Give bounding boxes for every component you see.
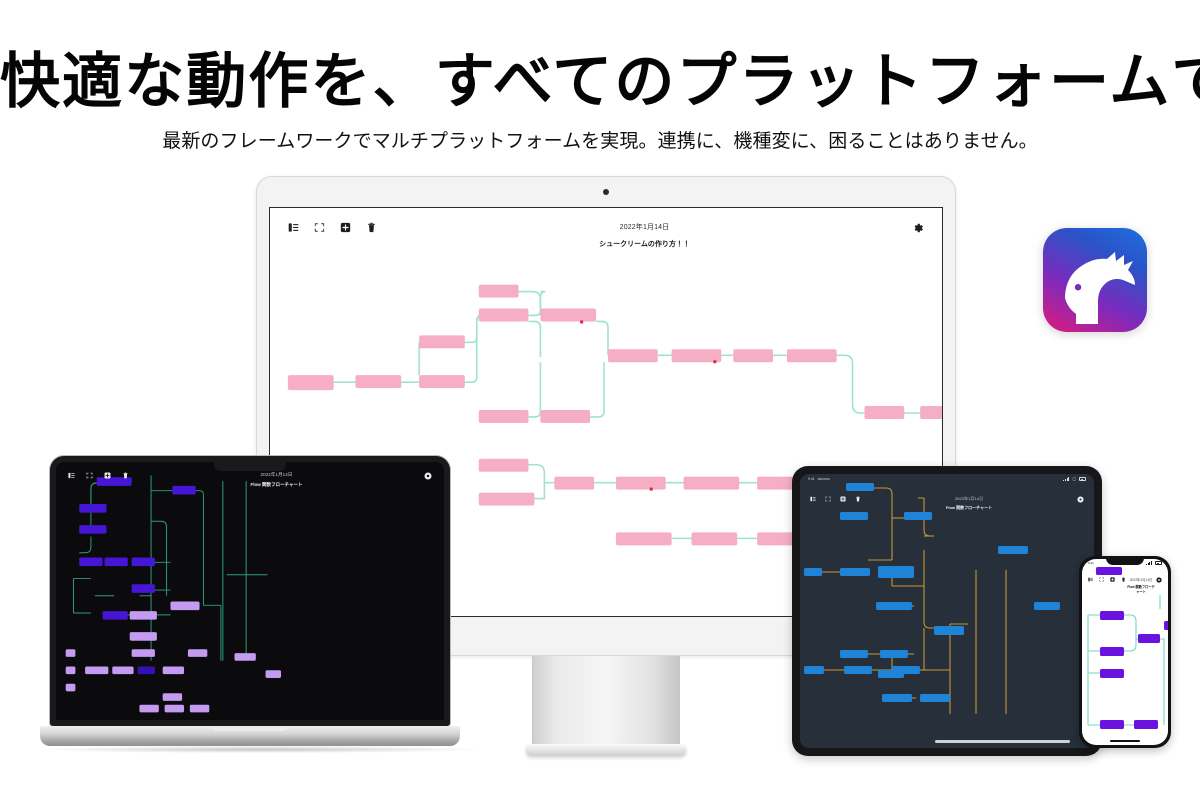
fullscreen-icon[interactable] — [1099, 577, 1104, 582]
gear-icon[interactable] — [1156, 577, 1162, 583]
status-time: 9:41 — [808, 477, 815, 481]
flow-node[interactable] — [804, 483, 1060, 702]
document-title: Flow 関数フローチャート — [1126, 584, 1156, 594]
laptop-shadow — [40, 746, 480, 753]
add-node-icon[interactable] — [840, 496, 846, 502]
signal-icon — [1146, 561, 1152, 565]
laptop-notch — [214, 462, 286, 471]
hero-page: 快適な動作を、すべてのプラットフォームで。 最新のフレームワークでマルチプラット… — [0, 0, 1200, 800]
add-node-icon[interactable] — [1110, 577, 1115, 582]
phone-title-block: 2022年1月14日 Flow 関数フローチャート — [1126, 577, 1156, 594]
document-date: 2022年1月14日 — [129, 472, 424, 478]
signal-icon — [1063, 477, 1069, 481]
fullscreen-icon[interactable] — [825, 496, 831, 502]
status-time: 9:41 — [1088, 561, 1094, 565]
phone-notch — [1106, 556, 1144, 565]
wolf-head-icon — [1043, 228, 1147, 332]
laptop-title-block: 2022年1月14日 Flow 関数フローチャート — [129, 472, 424, 488]
page-subtitle: 最新のフレームワークでマルチプラットフォームを実現。連携に、機種変に、困ることは… — [0, 129, 1200, 156]
tablet-toolbar: 2022年1月14日 Flow 関数フローチャート — [800, 482, 1094, 511]
sidebar-toggle-icon[interactable] — [810, 496, 816, 502]
app-icon[interactable] — [1043, 228, 1147, 332]
node-marker-dot — [580, 320, 716, 490]
document-title: Flow 関数フローチャート — [861, 505, 1077, 511]
status-right — [1146, 561, 1162, 565]
desktop-toolbar: 2022年1月14日 シュークリームの作り方！！ — [270, 208, 942, 249]
gear-icon[interactable] — [424, 472, 432, 480]
tablet-tool-group — [810, 496, 861, 502]
flow-node[interactable] — [66, 477, 281, 712]
fullscreen-icon[interactable] — [86, 472, 93, 479]
document-title: Flow 関数フローチャート — [129, 482, 424, 488]
desktop-tool-group — [288, 222, 377, 233]
battery-icon — [1155, 561, 1162, 565]
status-left: 9:41 — [1088, 561, 1094, 565]
document-date: 2022年1月14日 — [861, 496, 1077, 502]
delete-icon[interactable] — [366, 222, 377, 233]
hero-text-block: 快適な動作を、すべてのプラットフォームで。 最新のフレームワークでマルチプラット… — [0, 48, 1200, 156]
horizontal-scrollbar[interactable] — [935, 740, 1070, 743]
battery-icon — [1079, 477, 1086, 481]
fullscreen-icon[interactable] — [314, 222, 325, 233]
device-tablet: 9:41 docomo ◯ — [792, 466, 1102, 756]
phone-tool-group — [1088, 577, 1126, 582]
tablet-flow-canvas[interactable] — [800, 474, 1094, 748]
monitor-stand-neck — [532, 656, 680, 748]
phone-toolbar: 2022年1月14日 Flow 関数フローチャート — [1082, 565, 1168, 594]
laptop-base — [40, 726, 460, 746]
tablet-status-bar: 9:41 docomo ◯ — [800, 474, 1094, 481]
sidebar-toggle-icon[interactable] — [68, 472, 75, 479]
wifi-icon: ◯ — [1072, 477, 1076, 481]
device-laptop: 2022年1月14日 Flow 関数フローチャート — [40, 456, 460, 753]
status-carrier: docomo — [818, 477, 830, 481]
add-node-icon[interactable] — [104, 472, 111, 479]
sidebar-toggle-icon[interactable] — [1088, 577, 1093, 582]
delete-icon[interactable] — [122, 472, 129, 479]
document-date: 2022年1月14日 — [1126, 577, 1156, 582]
phone-home-indicator — [1110, 740, 1140, 742]
camera-icon — [603, 189, 609, 195]
tablet-title-block: 2022年1月14日 Flow 関数フローチャート — [861, 496, 1077, 511]
document-date: 2022年1月14日 — [377, 222, 912, 232]
phone-body: 9:41 — [1079, 556, 1171, 748]
laptop-tool-group — [68, 472, 129, 479]
laptop-flow-canvas[interactable] — [56, 462, 444, 720]
monitor-stand-foot — [526, 744, 686, 756]
tablet-body: 9:41 docomo ◯ — [792, 466, 1102, 756]
status-right: ◯ — [1063, 477, 1086, 481]
device-phone: 9:41 — [1079, 556, 1171, 748]
page-title: 快適な動作を、すべてのプラットフォームで。 — [0, 48, 1200, 115]
document-title: シュークリームの作り方！！ — [377, 239, 912, 249]
laptop-lid: 2022年1月14日 Flow 関数フローチャート — [50, 456, 450, 726]
gear-icon[interactable] — [912, 222, 924, 234]
add-node-icon[interactable] — [340, 222, 351, 233]
status-left: 9:41 docomo — [808, 477, 830, 481]
laptop-screen: 2022年1月14日 Flow 関数フローチャート — [56, 462, 444, 720]
sidebar-toggle-icon[interactable] — [288, 222, 299, 233]
laptop-trackpad-notch — [212, 726, 288, 731]
phone-screen: 9:41 — [1082, 559, 1168, 745]
gear-icon[interactable] — [1077, 496, 1084, 503]
tablet-screen: 9:41 docomo ◯ — [800, 474, 1094, 748]
desktop-title-block: 2022年1月14日 シュークリームの作り方！！ — [377, 222, 912, 249]
